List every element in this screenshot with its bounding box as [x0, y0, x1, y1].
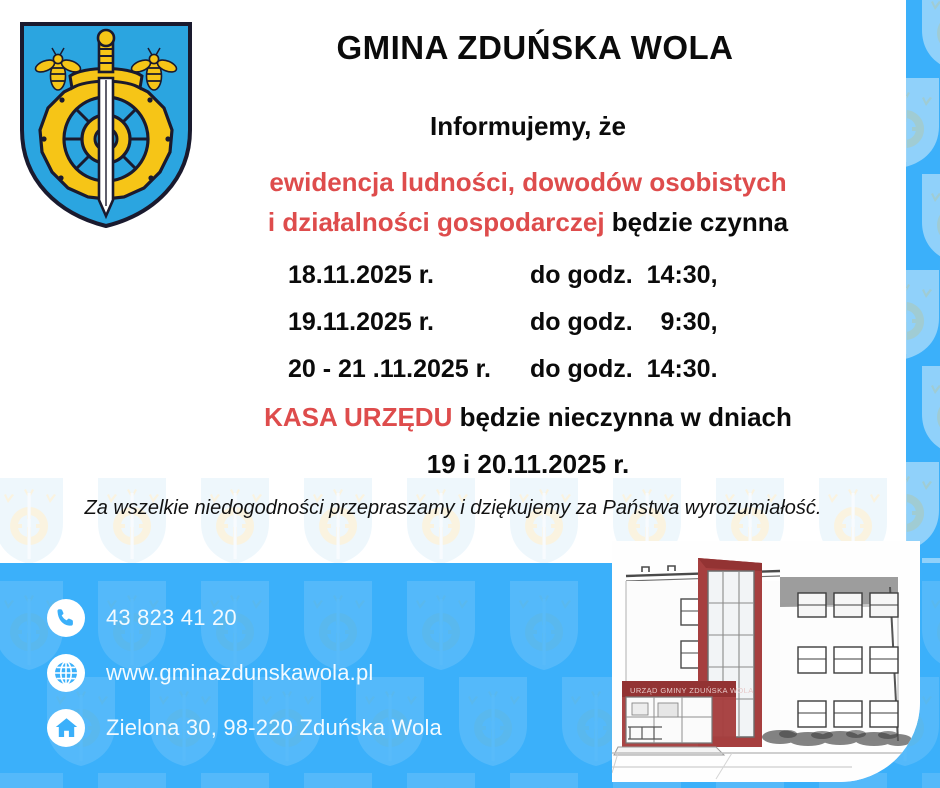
contact-row-website[interactable]: www.gminazdunskawola.pl: [47, 645, 442, 700]
phone-icon: [47, 599, 85, 637]
watermark-shield-icon: [507, 771, 581, 788]
watermark-shield-icon: [919, 771, 940, 788]
watermark-shield-icon: [507, 478, 581, 563]
watermark-shield-icon: [919, 579, 940, 671]
phone-number: 43 823 41 20: [106, 605, 237, 631]
red-highlight-line-2: i działalności gospodarczej będzie czynn…: [150, 206, 906, 239]
schedule-time: do godz. 14:30.: [530, 355, 770, 384]
page-title: GMINA ZDUŃSKA WOLA: [150, 30, 906, 66]
contact-row-phone[interactable]: 43 823 41 20: [47, 590, 442, 645]
watermark-shield-icon: [507, 579, 581, 671]
red-highlight-line-2-tail: będzie czynna: [605, 207, 789, 237]
table-row: 19.11.2025 r. do godz. 9:30,: [150, 308, 906, 337]
watermark-shield-icon: [0, 771, 66, 788]
announcement-text: GMINA ZDUŃSKA WOLA Informujemy, że ewide…: [150, 30, 906, 480]
watermark-shield-icon: [301, 478, 375, 563]
kasa-label: KASA URZĘDU: [264, 402, 452, 432]
watermark-shield-icon: [301, 771, 375, 788]
urzad-gminy-building-photo: URZĄD GMINY ZDUŃSKA WOLA: [612, 541, 920, 782]
watermark-shield-icon: [0, 478, 66, 563]
table-row: 18.11.2025 r. do godz. 14:30,: [150, 261, 906, 290]
schedule-time: do godz. 9:30,: [530, 308, 770, 337]
schedule-date: 18.11.2025 r.: [250, 261, 530, 290]
watermark-shield-icon: [198, 771, 272, 788]
red-highlight-line-1: ewidencja ludności, dowodów osobistych: [150, 166, 906, 199]
watermark-shield-icon: [198, 478, 272, 563]
kasa-notice-line: KASA URZĘDU będzie nieczynna w dniach: [150, 402, 906, 433]
schedule-list: 18.11.2025 r. do godz. 14:30, 19.11.2025…: [150, 261, 906, 384]
schedule-date: 19.11.2025 r.: [250, 308, 530, 337]
watermark-shield-icon: [919, 364, 940, 456]
poster-root: GMINA ZDUŃSKA WOLA Informujemy, że ewide…: [0, 0, 940, 788]
kasa-notice-tail: będzie nieczynna w dniach: [452, 402, 792, 432]
watermark-shield-icon: [95, 478, 169, 563]
kasa-closed-dates: 19 i 20.11.2025 r.: [150, 449, 906, 480]
contact-row-address[interactable]: Zielona 30, 98-220 Zduńska Wola: [47, 700, 442, 755]
watermark-shield-icon: [404, 771, 478, 788]
home-icon: [47, 709, 85, 747]
globe-icon: [47, 654, 85, 692]
building-sign-text: URZĄD GMINY ZDUŃSKA WOLA: [630, 686, 754, 695]
watermark-shield-icon: [919, 172, 940, 264]
apology-note: Za wszelkie niedogodności przepraszamy i…: [0, 497, 906, 520]
schedule-time: do godz. 14:30,: [530, 261, 770, 290]
watermark-shield-icon: [456, 675, 530, 767]
schedule-date: 20 - 21 .11.2025 r.: [250, 355, 530, 384]
address: Zielona 30, 98-220 Zduńska Wola: [106, 715, 442, 741]
website-url: www.gminazdunskawola.pl: [106, 660, 374, 686]
contact-list: 43 823 41 20 www.gminazdunskawola.pl: [47, 590, 442, 755]
lead-text: Informujemy, że: [150, 112, 906, 141]
watermark-shield-icon: [919, 0, 940, 72]
watermark-shield-icon: [95, 771, 169, 788]
table-row: 20 - 21 .11.2025 r. do godz. 14:30.: [150, 355, 906, 384]
red-highlight-line-2-red: i działalności gospodarczej: [268, 207, 605, 237]
watermark-shield-icon: [404, 478, 478, 563]
